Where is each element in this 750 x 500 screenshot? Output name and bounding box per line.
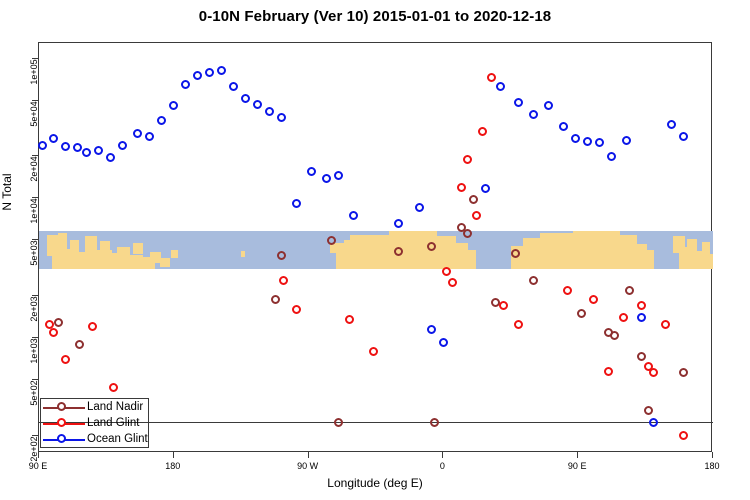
- data-point-ocean-glint: [193, 71, 202, 80]
- data-point-ocean-glint: [253, 100, 262, 109]
- y-tick: 5e+02: [0, 379, 38, 380]
- data-point-ocean-glint: [481, 184, 490, 193]
- data-point-land-nadir: [625, 286, 634, 295]
- landmass-shape: [160, 258, 169, 267]
- plot-area: [38, 42, 712, 452]
- y-tick: 1e+04: [0, 197, 38, 198]
- data-point-land-glint: [345, 315, 354, 324]
- data-point-land-nadir: [644, 406, 653, 415]
- data-point-ocean-glint: [145, 132, 154, 141]
- data-point-land-glint: [442, 267, 451, 276]
- data-point-ocean-glint: [106, 153, 115, 162]
- landmass-shape: [125, 255, 143, 269]
- data-point-land-glint: [487, 73, 496, 82]
- landmass-shape: [133, 243, 142, 254]
- data-point-ocean-glint: [169, 101, 178, 110]
- legend-item-ocean-glint[interactable]: Ocean Glint: [41, 431, 148, 447]
- data-point-ocean-glint: [181, 80, 190, 89]
- data-point-ocean-glint: [496, 82, 505, 91]
- chart-title: 0-10N February (Ver 10) 2015-01-01 to 20…: [0, 8, 750, 25]
- data-point-ocean-glint: [82, 148, 91, 157]
- data-point-ocean-glint: [61, 142, 70, 151]
- legend: Land NadirLand GlintOcean Glint: [40, 398, 149, 448]
- data-point-land-glint: [463, 155, 472, 164]
- data-point-ocean-glint: [307, 167, 316, 176]
- data-point-land-nadir: [327, 236, 336, 245]
- data-point-ocean-glint: [133, 129, 142, 138]
- data-point-ocean-glint: [229, 82, 238, 91]
- data-point-land-glint: [649, 368, 658, 377]
- data-point-land-glint: [679, 431, 688, 440]
- data-point-ocean-glint: [571, 134, 580, 143]
- y-axis-label: N Total: [0, 132, 14, 252]
- data-point-land-glint: [61, 355, 70, 364]
- x-tick-label: 90 W: [297, 461, 318, 471]
- data-point-land-glint: [472, 211, 481, 220]
- legend-item-land-nadir[interactable]: Land Nadir: [41, 399, 148, 415]
- x-tick-mark: [577, 452, 578, 458]
- data-point-ocean-glint: [559, 122, 568, 131]
- legend-key: [41, 399, 87, 415]
- y-tick: 1e+03: [0, 337, 38, 338]
- data-point-ocean-glint: [514, 98, 523, 107]
- data-point-ocean-glint: [649, 418, 658, 427]
- legend-key: [41, 415, 87, 431]
- legend-item-land-glint[interactable]: Land Glint: [41, 415, 148, 431]
- y-tick: 2e+04: [0, 155, 38, 156]
- landmass-shape: [100, 241, 111, 254]
- x-tick-mark: [38, 452, 39, 458]
- data-point-ocean-glint: [94, 146, 103, 155]
- landmass-shape: [708, 254, 713, 269]
- x-axis-label: Longitude (deg E): [0, 476, 750, 490]
- data-point-ocean-glint: [544, 101, 553, 110]
- legend-marker-icon: [57, 402, 66, 411]
- data-point-ocean-glint: [292, 199, 301, 208]
- data-point-ocean-glint: [529, 110, 538, 119]
- landmass-shape: [540, 233, 575, 269]
- data-point-ocean-glint: [157, 116, 166, 125]
- data-point-land-glint: [589, 295, 598, 304]
- data-point-land-glint: [448, 278, 457, 287]
- data-point-ocean-glint: [73, 143, 82, 152]
- data-point-land-glint: [514, 320, 523, 329]
- x-tick-mark: [442, 452, 443, 458]
- data-point-land-nadir: [430, 418, 439, 427]
- data-point-land-glint: [457, 183, 466, 192]
- legend-marker-icon: [57, 418, 66, 427]
- data-point-land-glint: [619, 313, 628, 322]
- data-point-land-glint: [604, 367, 613, 376]
- data-point-ocean-glint: [439, 338, 448, 347]
- data-point-ocean-glint: [667, 120, 676, 129]
- landmass-shape: [573, 231, 620, 269]
- data-point-ocean-glint: [679, 132, 688, 141]
- data-point-ocean-glint: [241, 94, 250, 103]
- data-point-ocean-glint: [427, 325, 436, 334]
- x-tick-label: 90 E: [568, 461, 587, 471]
- x-tick-label: 0: [440, 461, 445, 471]
- landmass-shape: [466, 250, 475, 269]
- data-point-ocean-glint: [622, 136, 631, 145]
- data-point-land-glint: [637, 301, 646, 310]
- data-point-land-nadir: [637, 352, 646, 361]
- y-tick: 1e+05: [0, 58, 38, 59]
- landmass-shape: [646, 250, 654, 269]
- data-point-land-nadir: [469, 195, 478, 204]
- data-point-land-nadir: [679, 368, 688, 377]
- data-point-land-glint: [109, 383, 118, 392]
- data-point-land-glint: [563, 286, 572, 295]
- data-point-land-nadir: [463, 229, 472, 238]
- y-tick: 2e+03: [0, 295, 38, 296]
- data-point-land-nadir: [334, 418, 343, 427]
- landmass-shape: [350, 235, 390, 269]
- data-point-ocean-glint: [583, 137, 592, 146]
- data-point-ocean-glint: [394, 219, 403, 228]
- data-point-ocean-glint: [349, 211, 358, 220]
- data-point-land-glint: [661, 320, 670, 329]
- x-tick-mark: [173, 452, 174, 458]
- y-tick: 2e+02: [0, 435, 38, 436]
- data-point-land-nadir: [610, 331, 619, 340]
- data-point-ocean-glint: [334, 171, 343, 180]
- data-point-ocean-glint: [217, 66, 226, 75]
- data-point-ocean-glint: [118, 141, 127, 150]
- x-tick-label: 180: [165, 461, 180, 471]
- y-tick: 5e+03: [0, 239, 38, 240]
- data-point-land-nadir: [271, 295, 280, 304]
- landmass-shape: [171, 250, 178, 258]
- y-tick: 5e+04: [0, 100, 38, 101]
- world-map-band: [39, 231, 713, 269]
- data-point-ocean-glint: [265, 107, 274, 116]
- data-point-land-glint: [478, 127, 487, 136]
- landmass-shape: [58, 233, 67, 248]
- data-point-land-nadir: [75, 340, 84, 349]
- data-point-ocean-glint: [38, 141, 47, 150]
- data-point-land-glint: [499, 301, 508, 310]
- data-point-ocean-glint: [595, 138, 604, 147]
- x-tick-mark: [308, 452, 309, 458]
- legend-marker-icon: [57, 434, 66, 443]
- landmass-shape: [241, 251, 245, 256]
- legend-key: [41, 431, 87, 447]
- data-point-ocean-glint: [205, 68, 214, 77]
- legend-label: Land Glint: [87, 417, 139, 429]
- data-point-land-glint: [369, 347, 378, 356]
- data-point-land-nadir: [577, 309, 586, 318]
- data-point-ocean-glint: [607, 152, 616, 161]
- data-point-ocean-glint: [49, 134, 58, 143]
- data-point-ocean-glint: [415, 203, 424, 212]
- data-point-land-nadir: [529, 276, 538, 285]
- x-tick-label: 180: [704, 461, 719, 471]
- data-point-land-glint: [88, 322, 97, 331]
- data-point-ocean-glint: [277, 113, 286, 122]
- x-tick-mark: [712, 452, 713, 458]
- legend-label: Land Nadir: [87, 401, 143, 413]
- data-point-land-glint: [279, 276, 288, 285]
- x-tick-label: 90 E: [29, 461, 48, 471]
- data-point-ocean-glint: [322, 174, 331, 183]
- data-point-land-glint: [292, 305, 301, 314]
- legend-label: Ocean Glint: [87, 433, 148, 445]
- data-point-land-nadir: [394, 247, 403, 256]
- chart-root: 0-10N February (Ver 10) 2015-01-01 to 20…: [0, 0, 750, 500]
- data-point-land-nadir: [54, 318, 63, 327]
- data-point-land-glint: [49, 328, 58, 337]
- data-point-ocean-glint: [637, 313, 646, 322]
